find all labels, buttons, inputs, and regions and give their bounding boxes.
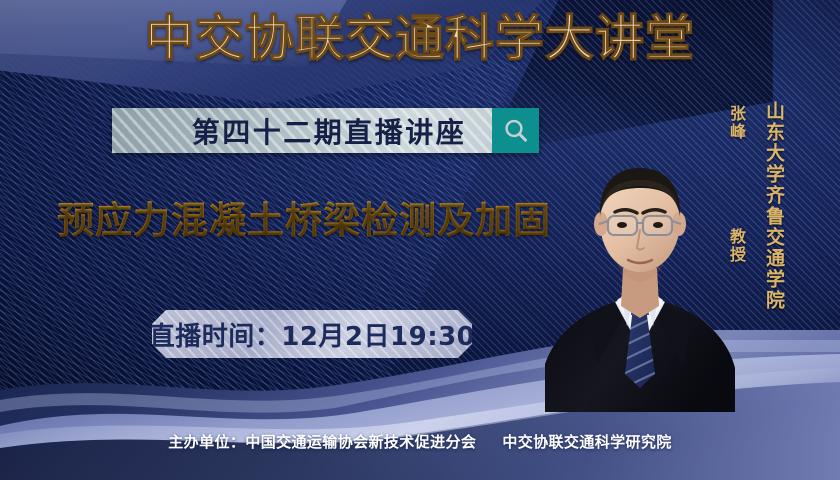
episode-banner: 第四十二期直播讲座 — [112, 108, 539, 153]
speaker-academic-title: 教授 — [724, 228, 748, 264]
footer-organizer-1: 中国交通运输协会新技术促进分会 — [245, 433, 476, 451]
search-icon-tile[interactable] — [492, 108, 539, 153]
lecture-topic-title: 预应力混凝土桥梁检测及加固 — [57, 190, 551, 244]
schedule-pill: 直播时间：12月2日19:30 — [152, 310, 472, 358]
speaker-portrait — [545, 112, 735, 412]
search-icon — [502, 117, 530, 145]
episode-banner-label: 第四十二期直播讲座 — [138, 111, 467, 151]
episode-banner-body: 第四十二期直播讲座 — [112, 108, 492, 153]
live-lecture-poster: 中交协联交通科学大讲堂 第四十二期直播讲座 预应力混凝土桥梁检测及加固 直播时间… — [0, 0, 840, 480]
speaker-affiliation: 山东大学齐鲁交通学院 — [761, 101, 788, 311]
page-title: 中交协联交通科学大讲堂 — [0, 14, 840, 63]
speaker-name: 张峰 — [724, 105, 748, 141]
footer-organizer-label: 主办单位： — [168, 433, 245, 451]
footer-organizer-2: 中交协联交通科学研究院 — [502, 433, 671, 451]
schedule-text: 直播时间：12月2日19:30 — [152, 316, 472, 353]
footer-organizers: 主办单位：中国交通运输协会新技术促进分会中交协联交通科学研究院 — [0, 431, 840, 452]
